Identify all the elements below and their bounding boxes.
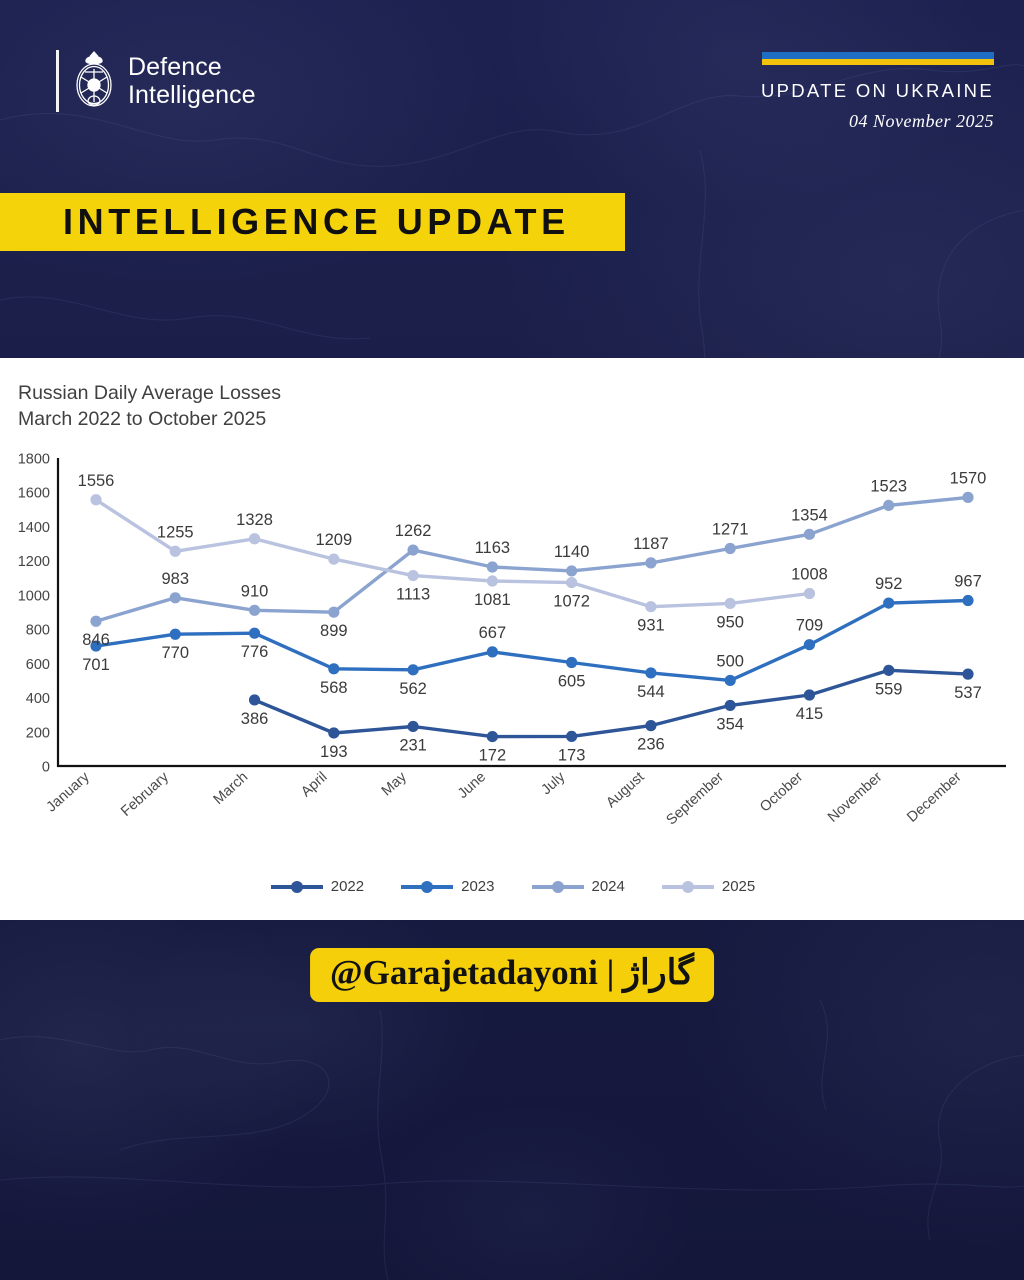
data-label-2023: 770 — [162, 644, 190, 662]
y-axis-tick-label: 200 — [26, 725, 50, 741]
page-header: Defence Intelligence UPDATE ON UKRAINE 0… — [0, 0, 1024, 358]
series-line-2024 — [96, 497, 968, 621]
data-point-2025 — [249, 533, 260, 544]
svg-text:June: June — [455, 769, 489, 802]
logo-line-intelligence: Intelligence — [128, 81, 256, 109]
data-label-2025: 1113 — [396, 586, 430, 604]
data-label-2022: 415 — [796, 705, 824, 723]
data-label-2023: 667 — [479, 624, 507, 642]
ukraine-flag-icon — [762, 52, 994, 65]
x-axis-tick-label: April — [298, 769, 330, 800]
svg-text:April: April — [298, 769, 330, 800]
data-label-2022: 172 — [479, 747, 507, 765]
data-label-2025: 1255 — [157, 523, 194, 541]
data-point-2022 — [328, 727, 339, 738]
x-axis-tick-label: May — [379, 769, 411, 800]
y-axis-tick-label: 800 — [26, 623, 50, 639]
data-point-2022 — [407, 721, 418, 732]
data-label-2025: 931 — [637, 617, 665, 635]
legend-item-2025[interactable]: 2025 — [660, 878, 755, 895]
y-axis-tick-label: 1600 — [18, 486, 50, 502]
legend-swatch-2024 — [530, 879, 586, 895]
x-axis-tick-label: October — [757, 769, 806, 816]
svg-text:May: May — [379, 769, 411, 800]
data-point-2025 — [90, 494, 101, 505]
svg-text:August: August — [603, 769, 647, 811]
data-point-2024 — [407, 544, 418, 555]
data-label-2023: 562 — [399, 680, 427, 698]
update-on-ukraine-title: UPDATE ON UKRAINE — [761, 80, 994, 102]
data-point-2025 — [645, 601, 656, 612]
data-point-2024 — [249, 605, 260, 616]
data-label-2022: 354 — [716, 715, 744, 733]
data-point-2023 — [645, 667, 656, 678]
logo-text: Defence Intelligence — [128, 53, 256, 110]
y-axis-tick-label: 600 — [26, 657, 50, 673]
data-label-2025: 1209 — [315, 531, 352, 549]
flag-yellow-stripe — [762, 59, 994, 66]
x-axis-tick-label: July — [538, 769, 568, 799]
data-point-2022 — [487, 731, 498, 742]
intelligence-update-banner: INTELLIGENCE UPDATE — [0, 193, 625, 251]
legend-swatch-2022 — [269, 879, 325, 895]
data-label-2024: 1163 — [475, 539, 510, 557]
y-axis-tick-label: 1800 — [18, 452, 50, 468]
data-point-2025 — [566, 577, 577, 588]
svg-text:July: July — [538, 769, 568, 799]
data-label-2025: 1008 — [791, 566, 828, 584]
data-point-2023 — [804, 639, 815, 650]
chart-plot-area: 020040060080010001200140016001800January… — [0, 450, 1024, 830]
data-label-2023: 709 — [796, 617, 824, 635]
data-point-2022 — [725, 700, 736, 711]
defence-intelligence-crest-icon — [73, 50, 115, 112]
data-point-2023 — [170, 629, 181, 640]
svg-text:September: September — [663, 769, 727, 828]
data-label-2024: 1570 — [950, 469, 987, 487]
data-point-2023 — [407, 664, 418, 675]
data-label-2023: 967 — [954, 573, 982, 591]
defence-intelligence-logo: Defence Intelligence — [56, 50, 256, 112]
chart-legend: 2022202320242025 — [0, 878, 1024, 895]
data-point-2025 — [170, 546, 181, 557]
data-point-2023 — [962, 595, 973, 606]
data-point-2024 — [804, 529, 815, 540]
data-label-2023: 500 — [716, 652, 744, 670]
data-point-2022 — [249, 694, 260, 705]
data-point-2024 — [566, 565, 577, 576]
data-label-2022: 231 — [399, 736, 427, 754]
legend-item-2024[interactable]: 2024 — [530, 878, 625, 895]
data-label-2025: 950 — [716, 613, 744, 631]
data-point-2023 — [725, 675, 736, 686]
svg-text:February: February — [118, 769, 172, 820]
data-point-2023 — [487, 646, 498, 657]
y-axis-tick-label: 0 — [42, 760, 50, 776]
data-label-2024: 1187 — [633, 535, 668, 553]
data-label-2023: 568 — [320, 679, 348, 697]
y-axis-tick-label: 1200 — [18, 554, 50, 570]
x-axis-tick-label: March — [211, 769, 252, 808]
data-label-2024: 1354 — [791, 506, 828, 524]
data-label-2024: 1523 — [870, 477, 907, 495]
data-point-2022 — [962, 669, 973, 680]
legend-label-2022: 2022 — [331, 878, 364, 895]
series-line-2022 — [255, 670, 969, 736]
x-axis-tick-label: August — [603, 769, 647, 811]
legend-item-2022[interactable]: 2022 — [269, 878, 364, 895]
data-point-2024 — [328, 607, 339, 618]
svg-text:October: October — [757, 769, 806, 816]
data-point-2024 — [170, 592, 181, 603]
data-point-2025 — [804, 588, 815, 599]
x-axis-tick-label: June — [455, 769, 489, 802]
data-label-2025: 1556 — [78, 472, 115, 490]
y-axis-tick-label: 1400 — [18, 520, 50, 536]
data-point-2024 — [883, 500, 894, 511]
data-label-2024: 1140 — [554, 543, 589, 561]
data-label-2023: 776 — [241, 643, 269, 661]
data-point-2023 — [249, 628, 260, 639]
data-label-2024: 899 — [320, 622, 348, 640]
svg-text:March: March — [211, 769, 252, 808]
data-label-2024: 910 — [241, 582, 269, 600]
data-label-2023: 701 — [82, 656, 110, 674]
page-footer: @Garajetadayoni | گاراژ — [0, 920, 1024, 1280]
data-point-2024 — [725, 543, 736, 554]
data-label-2022: 386 — [241, 710, 269, 728]
watermark-badge: @Garajetadayoni | گاراژ — [310, 948, 714, 1002]
data-label-2022: 537 — [954, 684, 982, 702]
data-label-2023: 952 — [875, 575, 903, 593]
legend-swatch-2025 — [660, 879, 716, 895]
y-axis-tick-label: 400 — [26, 691, 50, 707]
line-chart: 020040060080010001200140016001800January… — [0, 450, 1024, 830]
data-label-2024: 1262 — [395, 522, 432, 540]
data-point-2025 — [407, 570, 418, 581]
data-label-2024: 1271 — [712, 521, 749, 539]
data-point-2023 — [883, 598, 894, 609]
series-line-2023 — [96, 601, 968, 681]
x-axis-tick-label: November — [825, 769, 886, 826]
data-label-2022: 173 — [558, 746, 586, 764]
data-point-2022 — [566, 731, 577, 742]
x-axis-tick-label: January — [44, 769, 94, 816]
data-point-2024 — [487, 561, 498, 572]
data-point-2022 — [804, 689, 815, 700]
data-point-2023 — [328, 663, 339, 674]
x-axis-tick-label: February — [118, 769, 172, 820]
data-label-2024: 983 — [162, 570, 190, 588]
chart-title: Russian Daily Average Losses March 2022 … — [18, 381, 281, 433]
chart-title-line-2: March 2022 to October 2025 — [18, 407, 281, 433]
data-label-2024: 846 — [82, 631, 110, 649]
data-label-2025: 1328 — [236, 511, 273, 529]
data-point-2024 — [645, 557, 656, 568]
legend-label-2024: 2024 — [592, 878, 625, 895]
data-point-2024 — [962, 492, 973, 503]
y-axis-tick-label: 1000 — [18, 588, 50, 604]
data-point-2024 — [90, 616, 101, 627]
data-label-2023: 544 — [637, 683, 665, 701]
svg-text:November: November — [825, 769, 886, 826]
data-point-2025 — [328, 554, 339, 565]
chart-title-line-1: Russian Daily Average Losses — [18, 381, 281, 407]
legend-swatch-2023 — [399, 879, 455, 895]
x-axis-tick-label: December — [904, 769, 965, 826]
data-label-2023: 605 — [558, 672, 586, 690]
data-point-2023 — [566, 657, 577, 668]
x-axis-tick-label: September — [663, 769, 727, 828]
chart-axes — [58, 458, 1006, 766]
data-point-2025 — [487, 575, 498, 586]
data-point-2022 — [645, 720, 656, 731]
data-label-2025: 1081 — [474, 591, 511, 609]
logo-line-defence: Defence — [128, 53, 256, 81]
data-label-2025: 1072 — [553, 593, 590, 611]
chart-panel: Russian Daily Average Losses March 2022 … — [0, 358, 1024, 920]
legend-label-2025: 2025 — [722, 878, 755, 895]
logo-divider-rule — [56, 50, 59, 112]
legend-label-2023: 2023 — [461, 878, 494, 895]
data-point-2022 — [883, 665, 894, 676]
data-label-2022: 193 — [320, 743, 348, 761]
legend-item-2023[interactable]: 2023 — [399, 878, 494, 895]
svg-text:December: December — [904, 769, 965, 826]
data-point-2025 — [725, 598, 736, 609]
svg-text:January: January — [44, 769, 94, 816]
data-label-2022: 559 — [875, 680, 903, 698]
intelligence-update-banner-text: INTELLIGENCE UPDATE — [0, 201, 570, 243]
data-label-2022: 236 — [637, 736, 665, 754]
update-date: 04 November 2025 — [849, 111, 994, 132]
